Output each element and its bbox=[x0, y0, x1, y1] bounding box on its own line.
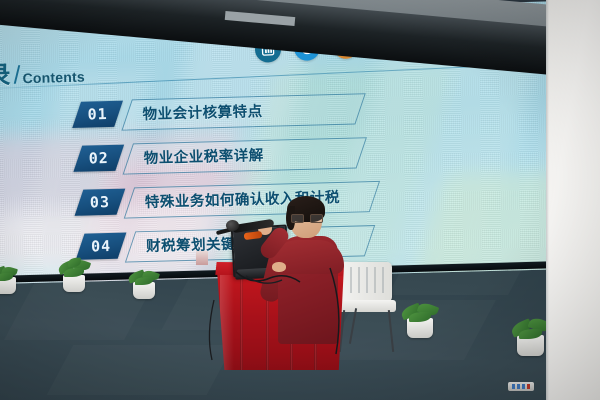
item-number: 04 bbox=[91, 237, 112, 256]
chair-back bbox=[340, 262, 392, 302]
glasses-icon bbox=[291, 214, 321, 221]
item-label: 物业会计核算特点 bbox=[142, 100, 263, 124]
potted-plant bbox=[0, 268, 20, 294]
item-number-badge: 01 bbox=[72, 101, 123, 128]
potted-plant bbox=[63, 262, 89, 292]
potted-plant bbox=[407, 306, 437, 338]
chair bbox=[338, 262, 400, 320]
item-number-badge: 04 bbox=[76, 233, 127, 260]
potted-plant bbox=[517, 322, 547, 356]
item-number: 03 bbox=[90, 193, 111, 212]
microphone-head bbox=[226, 220, 239, 231]
item-number: 01 bbox=[87, 105, 108, 124]
side-wall bbox=[546, 0, 600, 400]
item-number-badge: 02 bbox=[73, 145, 124, 172]
item-number: 02 bbox=[88, 149, 109, 168]
item-number-badge: 03 bbox=[75, 189, 126, 216]
floor-device bbox=[508, 382, 534, 391]
conference-stage-photo: 目录 / Contents bbox=[0, 0, 600, 400]
plant-pot bbox=[63, 275, 85, 292]
potted-plant bbox=[133, 271, 159, 299]
item-label: 物业企业税率详解 bbox=[143, 144, 264, 168]
stage-box bbox=[196, 251, 208, 265]
presenter-hand-on-keyboard bbox=[272, 262, 286, 272]
